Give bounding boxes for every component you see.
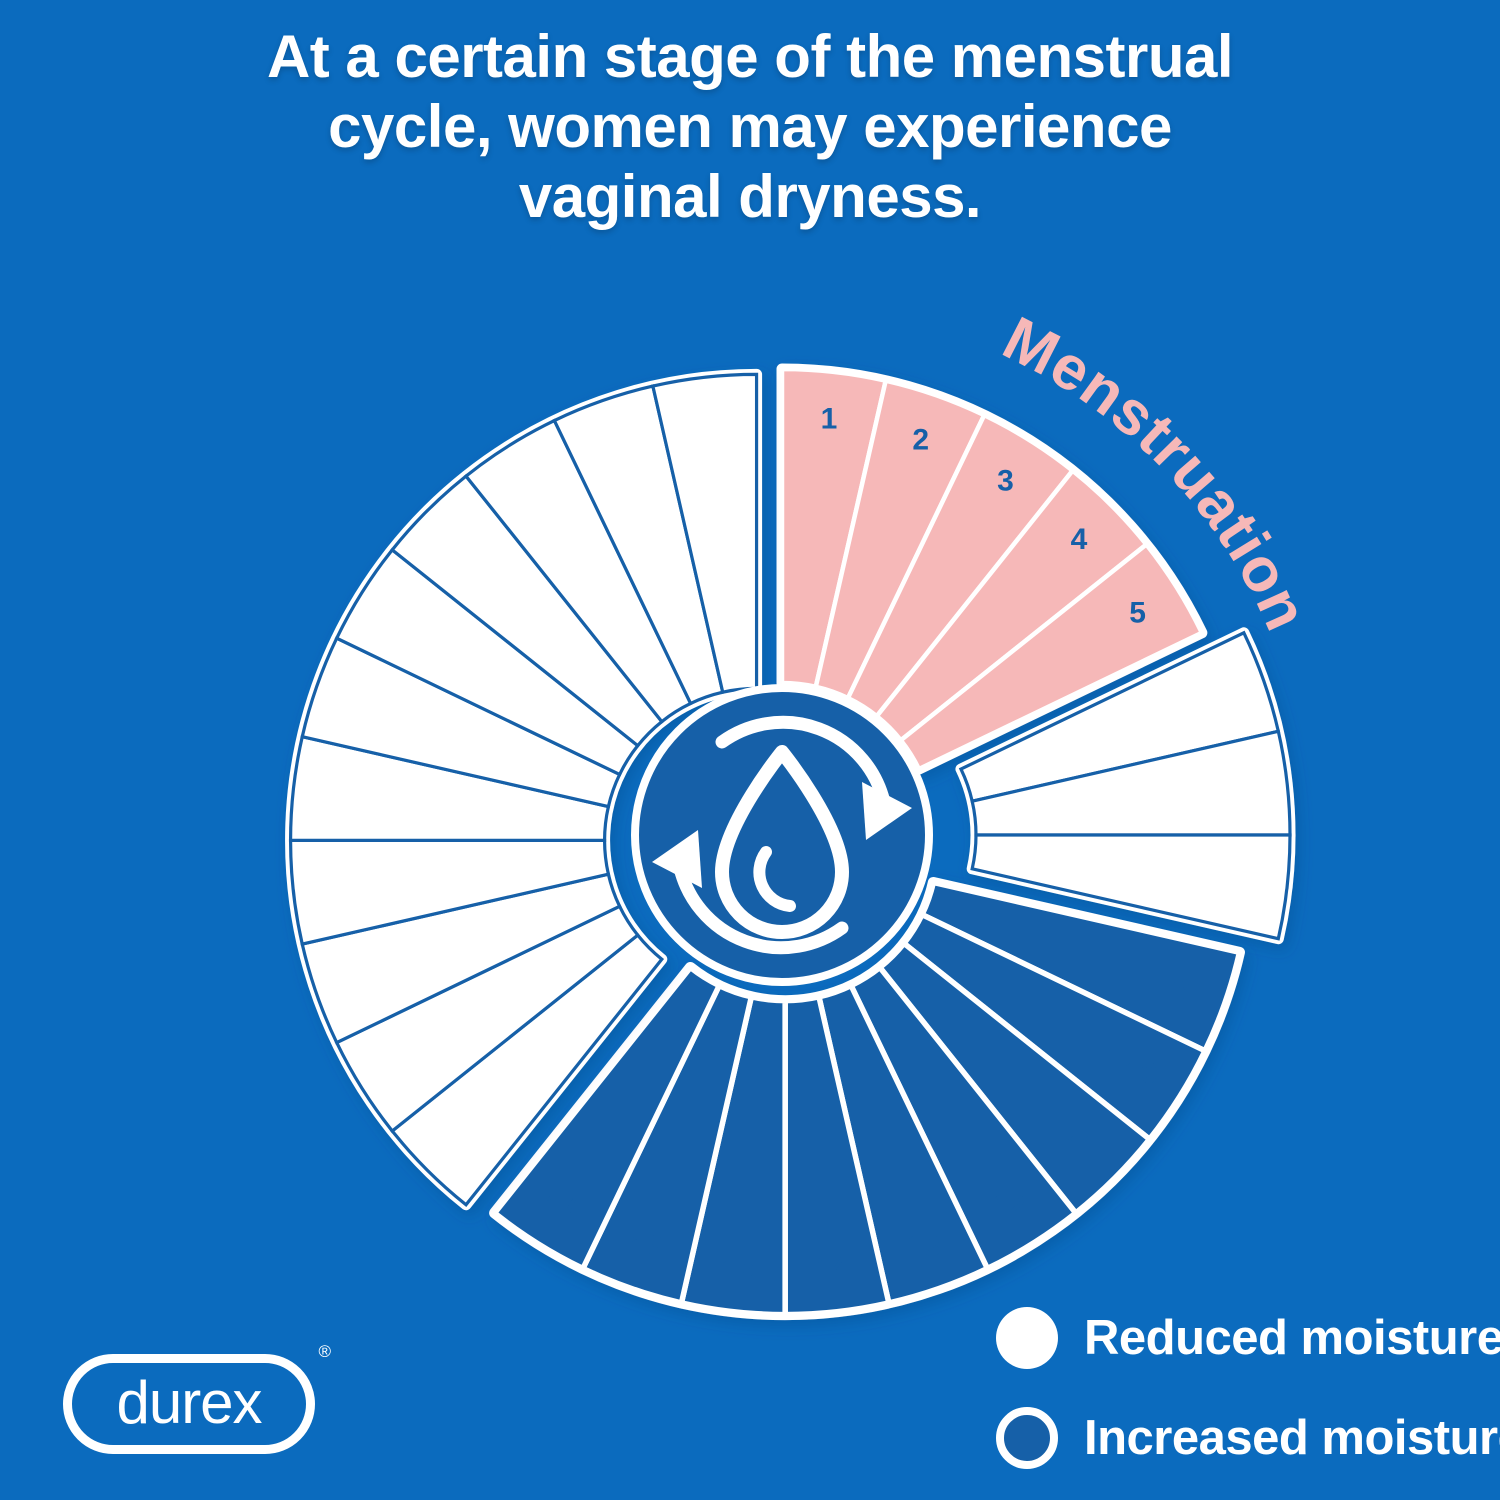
day-number-23: 23 xyxy=(343,687,376,720)
registered-trademark-icon: ® xyxy=(318,1342,331,1362)
day-number-25: 25 xyxy=(443,528,476,561)
day-number-20: 20 xyxy=(343,964,376,997)
legend-swatch-increased-icon xyxy=(996,1407,1058,1469)
day-number-3: 3 xyxy=(997,464,1014,497)
day-number-8: 8 xyxy=(1233,867,1250,900)
day-number-15: 15 xyxy=(721,1251,754,1284)
water-drop-cycle-icon xyxy=(635,688,929,982)
day-number-21: 21 xyxy=(323,872,356,905)
day-number-1: 1 xyxy=(821,403,838,436)
day-number-10: 10 xyxy=(1124,1057,1157,1090)
day-number-2: 2 xyxy=(912,424,929,457)
infographic-canvas: At a certain stage of the menstrual cycl… xyxy=(0,0,1500,1500)
legend-label-increased: Increased moisture xyxy=(1084,1410,1500,1466)
day-number-5: 5 xyxy=(1129,597,1146,630)
day-number-16: 16 xyxy=(630,1230,663,1263)
day-number-7: 7 xyxy=(1233,773,1250,806)
day-number-9: 9 xyxy=(1173,972,1190,1005)
day-number-26: 26 xyxy=(516,470,549,503)
legend-item-reduced[interactable]: Reduced moisture xyxy=(996,1288,1500,1388)
day-number-11: 11 xyxy=(1066,1131,1098,1164)
day-number-14: 14 xyxy=(815,1251,849,1284)
day-number-24: 24 xyxy=(384,602,418,635)
day-number-17: 17 xyxy=(545,1189,578,1222)
day-number-18: 18 xyxy=(443,1122,476,1155)
day-number-6: 6 xyxy=(1212,681,1229,714)
legend: Reduced moisture Increased moisture xyxy=(996,1288,1500,1488)
day-number-27: 27 xyxy=(601,429,634,462)
day-number-19: 19 xyxy=(384,1049,417,1082)
day-number-22: 22 xyxy=(323,778,356,811)
durex-logo[interactable]: durex ® xyxy=(63,1354,315,1454)
day-number-28: 28 xyxy=(693,408,726,441)
legend-item-increased[interactable]: Increased moisture xyxy=(996,1388,1500,1488)
legend-label-reduced: Reduced moisture xyxy=(1084,1310,1500,1366)
day-number-13: 13 xyxy=(907,1230,940,1263)
cycle-wheel: 1234567891011121314151617181920212223242… xyxy=(0,0,1500,1500)
logo-wordmark: durex xyxy=(63,1354,315,1454)
day-number-4: 4 xyxy=(1071,523,1088,556)
day-number-12: 12 xyxy=(992,1189,1025,1222)
legend-swatch-reduced-icon xyxy=(996,1307,1058,1369)
